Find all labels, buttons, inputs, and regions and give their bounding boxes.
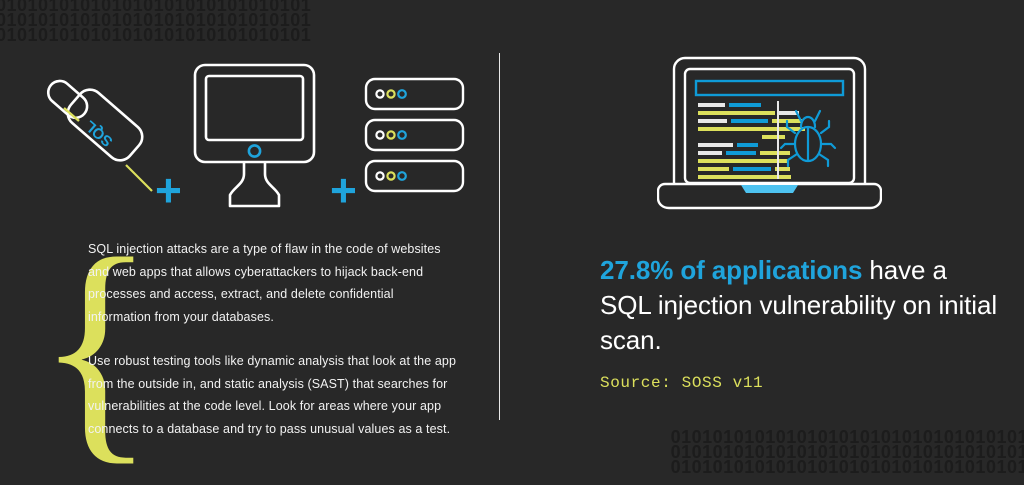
left-text-block: SQL injection attacks are a type of flaw…: [88, 238, 456, 440]
server-unit: [366, 79, 463, 109]
server-led-white: [376, 90, 383, 97]
server-unit: [366, 120, 463, 150]
monitor-icon: [192, 62, 317, 210]
monitor-screen: [206, 76, 303, 140]
syringe-needle: [126, 165, 152, 191]
server-led-white: [376, 172, 383, 179]
statistic-highlight: 27.8% of applications: [600, 255, 862, 285]
paragraph-remediation: Use robust testing tools like dynamic an…: [88, 350, 456, 440]
server-led-cyan: [398, 90, 406, 98]
screen-titlebar: [696, 81, 843, 95]
server-led-white: [376, 131, 383, 138]
server-led-yellow: [387, 131, 394, 138]
server-stack-icon: [364, 77, 474, 195]
statistic-source: Source: SOSS v11: [600, 374, 1000, 392]
server-led-cyan: [398, 131, 406, 139]
server-led-yellow: [387, 90, 394, 97]
monitor-bezel: [195, 65, 314, 162]
syringe-icon: SQL: [42, 72, 157, 192]
plus-icon-1: +: [155, 167, 182, 213]
server-led-cyan: [398, 172, 406, 180]
server-led-yellow: [387, 172, 394, 179]
icon-equation-row: SQL + +: [42, 62, 472, 210]
right-panel: { 27.8% of applications have a SQL injec…: [500, 0, 1024, 472]
left-panel: SQL + +: [0, 0, 499, 472]
statistic-block: 27.8% of applications have a SQL injecti…: [600, 253, 1000, 392]
syringe-label: SQL: [82, 117, 116, 150]
server-unit: [366, 161, 463, 191]
monitor-power-indicator-icon: [249, 145, 260, 156]
laptop-trackpad: [741, 185, 798, 193]
monitor-stand: [230, 162, 279, 206]
plus-icon-2: +: [330, 167, 357, 213]
paragraph-definition: SQL injection attacks are a type of flaw…: [88, 238, 456, 328]
laptop-icon: [657, 55, 882, 210]
statistic-headline: 27.8% of applications have a SQL injecti…: [600, 253, 1000, 358]
